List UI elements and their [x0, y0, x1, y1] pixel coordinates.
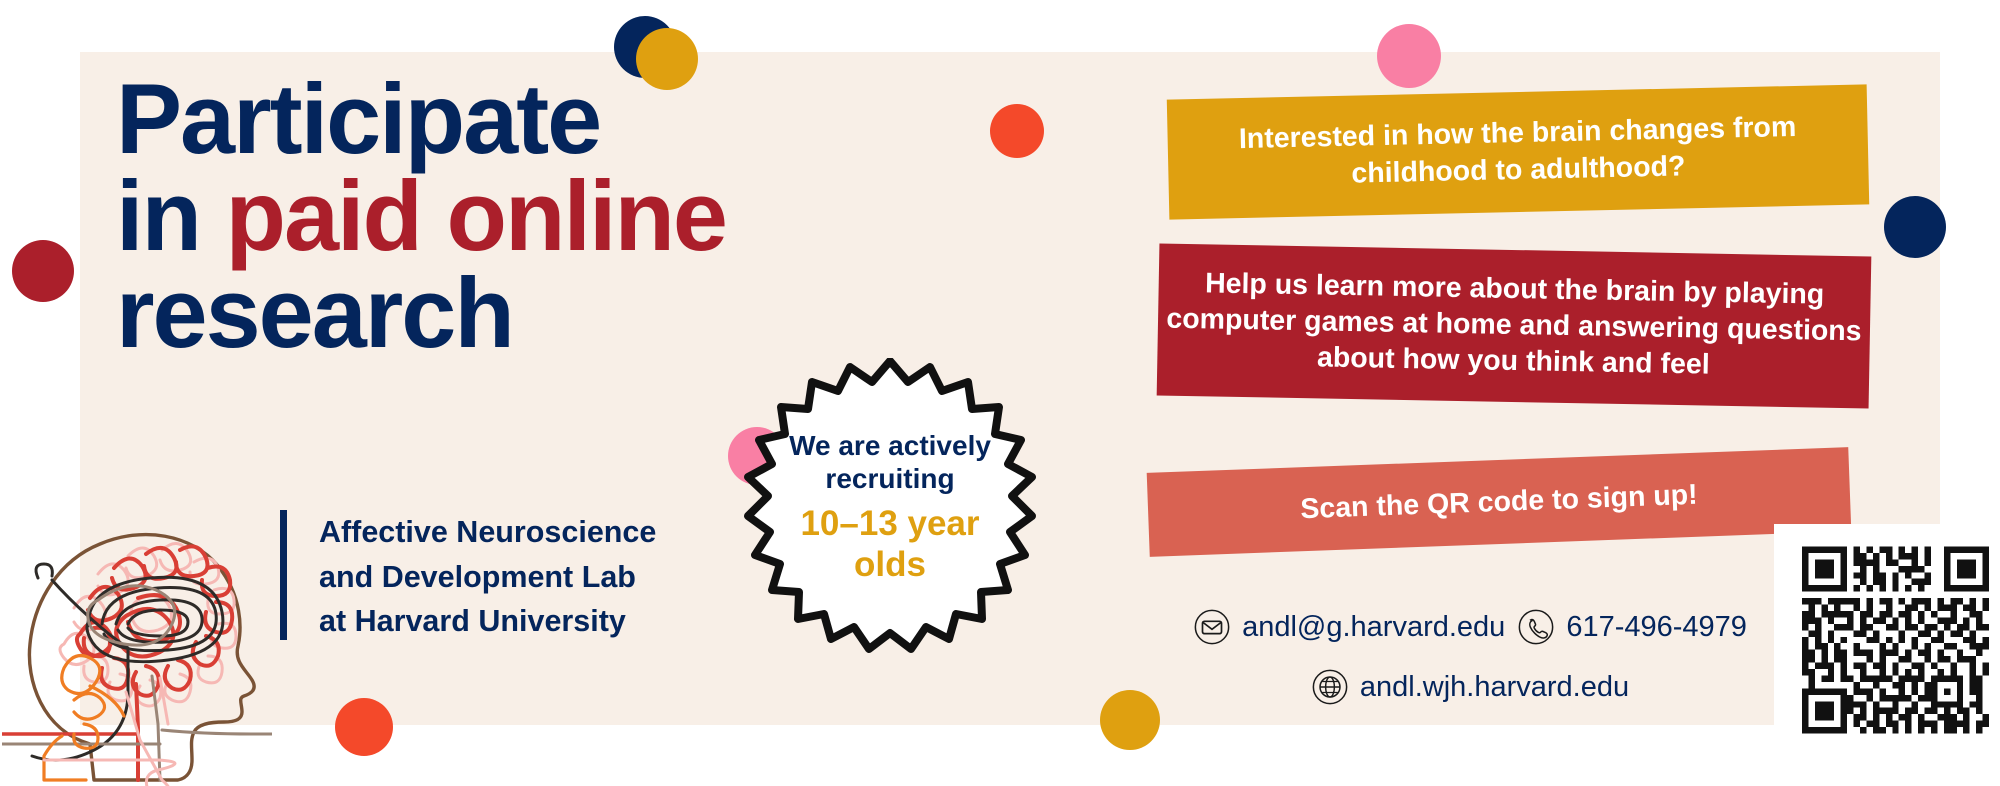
- orange-dot-bottom: [335, 698, 393, 756]
- head-with-scribbled-brain-illustration: [2, 448, 272, 786]
- banner-study-description: Help us learn more about the brain by pl…: [1157, 243, 1872, 408]
- lab-name: Affective Neuroscience and Development L…: [319, 510, 656, 644]
- dark-red-dot: [12, 240, 74, 302]
- badge-line-2: 10–13 year olds: [775, 504, 1005, 586]
- headline-line-3: research: [116, 264, 956, 361]
- lab-name-line-3: at Harvard University: [319, 599, 656, 644]
- recruiting-badge: We are actively recruiting 10–13 year ol…: [740, 358, 1040, 658]
- lab-name-line-2: and Development Lab: [319, 555, 656, 600]
- globe-icon: [1311, 668, 1349, 706]
- headline-line-1: Participate: [116, 70, 956, 167]
- lab-name-line-1: Affective Neuroscience: [319, 510, 656, 555]
- qr-code[interactable]: [1802, 545, 1989, 735]
- contact-phone[interactable]: 617-496-4979: [1517, 608, 1747, 646]
- contact-email-text: andl@g.harvard.edu: [1242, 613, 1505, 642]
- contact-email[interactable]: andl@g.harvard.edu: [1193, 608, 1505, 646]
- phone-icon: [1517, 608, 1555, 646]
- contact-row-secondary: andl.wjh.harvard.edu: [1160, 668, 1780, 706]
- orange-dot: [990, 104, 1044, 158]
- banner-coral-text: Scan the QR code to sign up!: [1300, 478, 1698, 526]
- vertical-rule: [280, 510, 287, 640]
- envelope-icon: [1193, 608, 1231, 646]
- contact-website[interactable]: andl.wjh.harvard.edu: [1311, 668, 1629, 706]
- banner-yellow-text: Interested in how the brain changes from…: [1167, 108, 1868, 197]
- contact-website-text: andl.wjh.harvard.edu: [1360, 673, 1629, 702]
- banner-red-text: Help us learn more about the brain by pl…: [1157, 266, 1871, 387]
- gold-dot-bottom: [1100, 690, 1160, 750]
- banner-interest-question: Interested in how the brain changes from…: [1167, 84, 1869, 219]
- badge-line-1: We are actively recruiting: [775, 430, 1005, 496]
- contact-info: andl@g.harvard.edu 617-496-4979 a: [1160, 608, 1780, 706]
- contact-row-primary: andl@g.harvard.edu 617-496-4979: [1160, 608, 1780, 646]
- lab-identity-block: Affective Neuroscience and Development L…: [280, 510, 656, 644]
- pink-dot: [1377, 24, 1441, 88]
- contact-phone-text: 617-496-4979: [1566, 613, 1747, 642]
- headline-line-2-prefix: in: [116, 160, 225, 271]
- headline-emphasis-paid-online: paid online: [225, 160, 726, 271]
- navy-dot-right: [1884, 196, 1946, 258]
- headline-line-2: in paid online: [116, 167, 956, 264]
- page-title: Participate in paid online research: [116, 70, 956, 361]
- poster-canvas: Participate in paid online research: [0, 0, 2000, 786]
